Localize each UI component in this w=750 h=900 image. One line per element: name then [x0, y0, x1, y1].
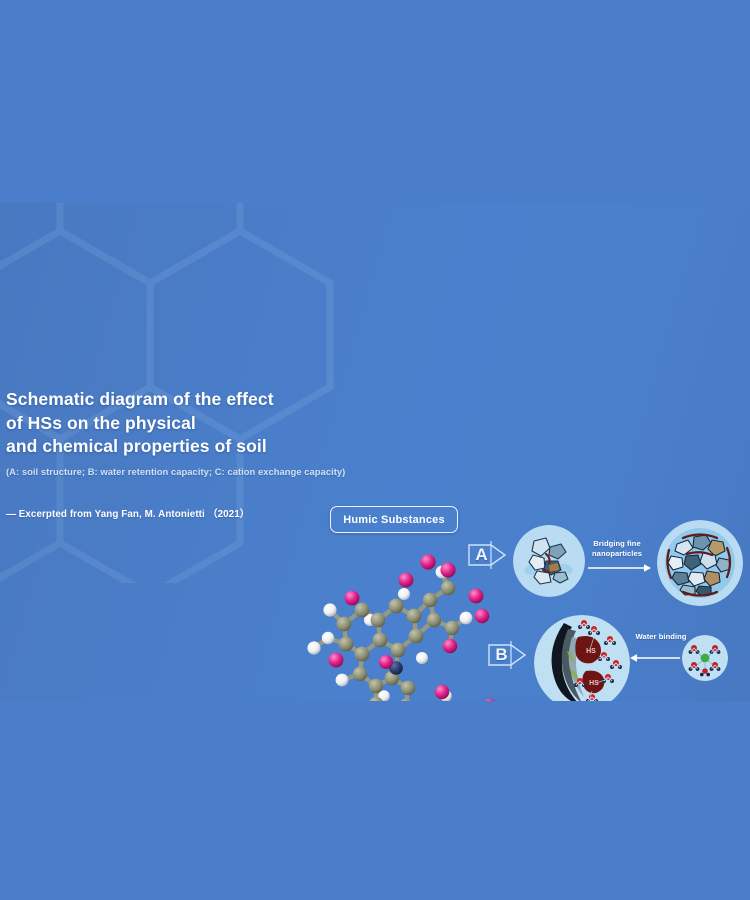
panel-marker-a: A — [467, 535, 507, 575]
circle-aggregated-soil-particles — [657, 520, 743, 606]
page-title: Schematic diagram of the effect of HSs o… — [6, 388, 336, 459]
citation-line: — Excerpted from Yang Fan, M. Antonietti… — [6, 506, 336, 520]
panel-a-arrow-right-icon — [588, 563, 652, 573]
headline-block: Schematic diagram of the effect of HSs o… — [6, 388, 336, 520]
panel-b-arrow-left-icon — [630, 653, 680, 663]
panel-a-process-label: Bridging fine nanoparticles — [580, 539, 654, 558]
illustration-band: Schematic diagram of the effect of HSs o… — [0, 203, 750, 701]
panel-marker-b: B — [487, 635, 527, 675]
circle-loose-soil-particles — [513, 525, 585, 597]
svg-text:HS: HS — [586, 648, 596, 655]
poster-canvas: Schematic diagram of the effect of HSs o… — [0, 0, 750, 900]
circle-hydrated-cation — [682, 635, 728, 681]
circle-humic-substance-mineral-water: HS HS — [534, 615, 630, 701]
svg-text:HS: HS — [589, 680, 599, 687]
title-line-3: and chemical properties of soil — [6, 435, 336, 459]
panel-marker-a-letter: A — [467, 535, 496, 575]
background-bottom — [0, 700, 750, 900]
background-top — [0, 0, 750, 204]
title-line-1: Schematic diagram of the effect — [6, 388, 336, 412]
panel-b-process-label: Water binding — [628, 632, 694, 642]
subtitle-legend: (A: soil structure; B: water retention c… — [6, 466, 336, 477]
panel-marker-b-letter: B — [487, 635, 516, 675]
title-line-2: of HSs on the physical — [6, 412, 336, 436]
